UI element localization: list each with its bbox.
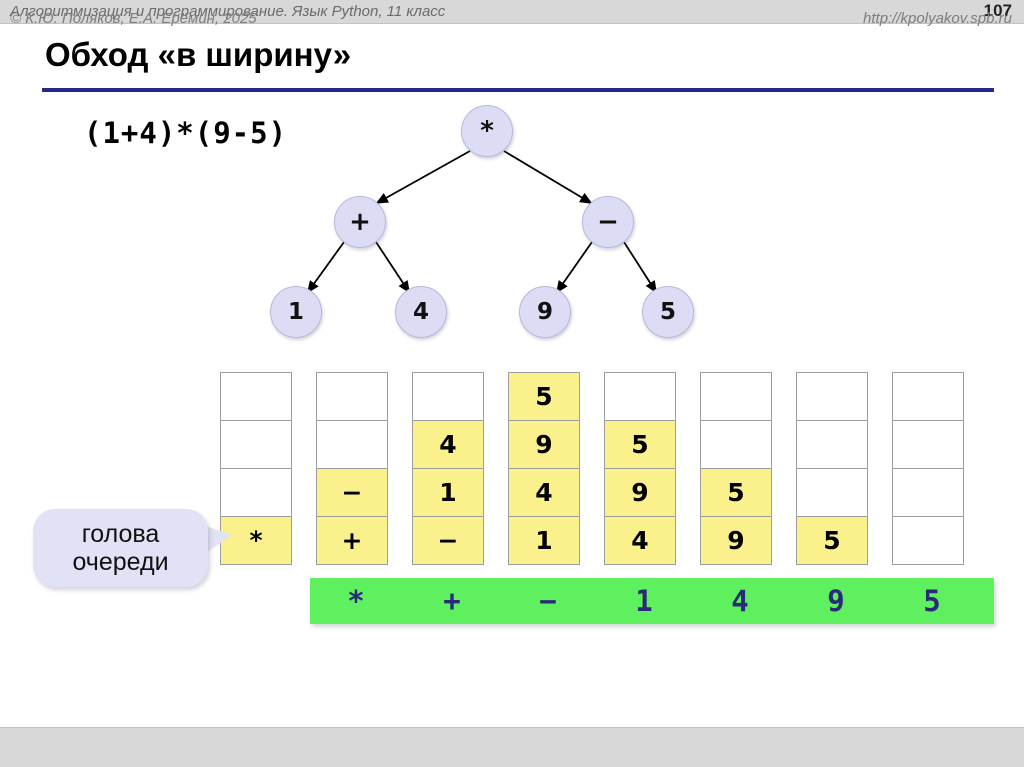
footer-copyright: © К.Ю. Поляков, Е.А. Ерёмин, 2025 [10, 10, 257, 27]
callout-line-2: очереди [72, 548, 168, 576]
queue-column: 59 [700, 372, 772, 565]
queue-cell-filled: 4 [412, 420, 484, 469]
queue-cell-empty [316, 372, 388, 421]
queue-cell-empty [892, 468, 964, 517]
queue-cell-empty [796, 468, 868, 517]
queue-cell-empty [412, 372, 484, 421]
queue-head-callout: голова очереди [33, 509, 208, 587]
queue-cell-empty [604, 372, 676, 421]
queue-cell-filled: + [316, 516, 388, 565]
queue-cell-filled: 4 [508, 468, 580, 517]
queue-cell-filled: − [412, 516, 484, 565]
output-item: 9 [800, 578, 872, 624]
callout-line-1: голова [82, 520, 160, 548]
queue-cell-filled: 5 [700, 468, 772, 517]
queue-cell-filled: 1 [412, 468, 484, 517]
queue-cell-filled: 5 [796, 516, 868, 565]
queue-cell-filled: 5 [508, 372, 580, 421]
queue-cell-filled: 4 [604, 516, 676, 565]
queue-column: 5 [796, 372, 868, 565]
footer-url: http://kpolyakov.spb.ru [863, 10, 1012, 27]
queue-cell-empty [700, 420, 772, 469]
queue-cell-empty [892, 372, 964, 421]
output-item: 4 [704, 578, 776, 624]
queue-cell-empty [316, 420, 388, 469]
queue-cell-filled: 1 [508, 516, 580, 565]
queue-cell-empty [796, 372, 868, 421]
queue-cell-filled: 9 [700, 516, 772, 565]
footer-bar [0, 727, 1024, 767]
queue-cell-empty [700, 372, 772, 421]
queue-cell-empty [892, 420, 964, 469]
queue-cell-filled: 5 [604, 420, 676, 469]
output-item: − [512, 578, 584, 624]
output-item: 1 [608, 578, 680, 624]
queue-cell-empty [220, 420, 292, 469]
queue-cell-filled: − [316, 468, 388, 517]
output-item: 5 [896, 578, 968, 624]
queue-cell-filled: 9 [508, 420, 580, 469]
queue-cell-filled: 9 [604, 468, 676, 517]
queue-column: 5941 [508, 372, 580, 565]
queue-column: −+ [316, 372, 388, 565]
traversal-output-bar: *+−1495 [310, 578, 994, 624]
queue-cell-empty [892, 516, 964, 565]
queue-cell-empty [796, 420, 868, 469]
queue-cell-empty [220, 372, 292, 421]
queue-column [892, 372, 964, 565]
output-item: * [320, 578, 392, 624]
queue-column: 41− [412, 372, 484, 565]
queue-column: 594 [604, 372, 676, 565]
output-item: + [416, 578, 488, 624]
queue-cell-empty [220, 468, 292, 517]
